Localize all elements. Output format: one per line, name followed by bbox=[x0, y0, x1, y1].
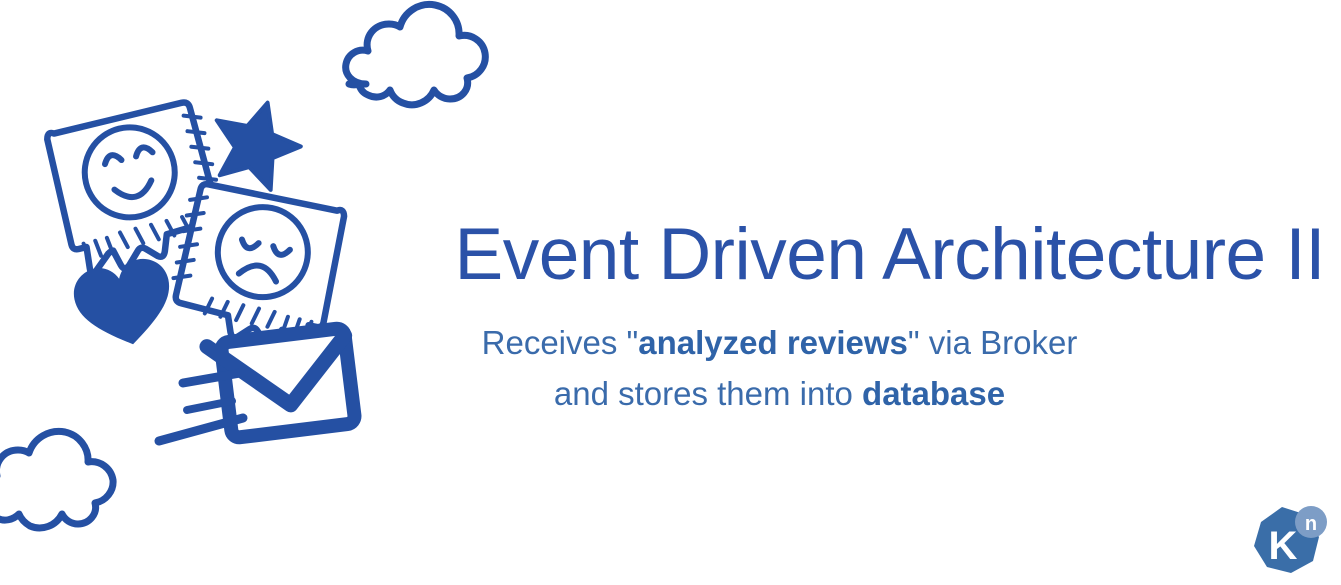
page-title: Event Driven Architecture II bbox=[360, 218, 1325, 291]
subtitle-line1-bold: analyzed reviews bbox=[638, 324, 908, 361]
motion-lines-icon bbox=[159, 372, 246, 441]
logo-primary-letter: K bbox=[1269, 524, 1298, 568]
cloud-bottom-left-icon bbox=[0, 431, 113, 527]
feedback-card-sad-icon bbox=[163, 179, 347, 358]
subtitle: Receives "analyzed reviews" via Broker a… bbox=[360, 317, 1325, 419]
subtitle-line2-prefix: and stores them into bbox=[554, 375, 862, 412]
feedback-card-happy-icon bbox=[44, 97, 232, 280]
slide-canvas: Event Driven Architecture II Receives "a… bbox=[0, 0, 1341, 585]
brand-logo: K n bbox=[1249, 503, 1331, 581]
subtitle-line1-prefix: Receives " bbox=[482, 324, 639, 361]
envelope-icon bbox=[207, 328, 356, 440]
logo-badge-letter: n bbox=[1305, 513, 1317, 535]
subtitle-line-2: and stores them into database bbox=[360, 368, 1199, 419]
heart-icon bbox=[69, 254, 180, 354]
cloud-top-icon bbox=[346, 4, 486, 104]
text-block: Event Driven Architecture II Receives "a… bbox=[360, 218, 1325, 419]
subtitle-line-1: Receives "analyzed reviews" via Broker bbox=[360, 317, 1199, 368]
subtitle-line1-suffix: " via Broker bbox=[908, 324, 1077, 361]
subtitle-line2-bold: database bbox=[862, 375, 1005, 412]
star-icon bbox=[202, 90, 309, 194]
